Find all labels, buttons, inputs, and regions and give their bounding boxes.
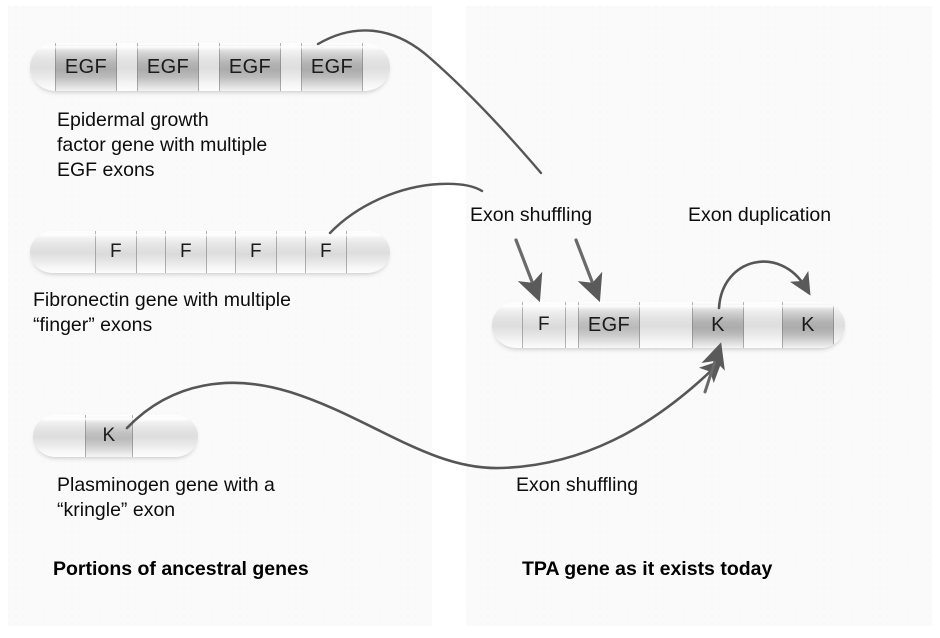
exon-tpa-k2: K — [782, 302, 834, 348]
exon-duplication-label: Exon duplication — [688, 203, 831, 227]
exon-f-4: F — [305, 231, 347, 273]
exon-egf-4: EGF — [301, 43, 363, 91]
exon-egf-1: EGF — [55, 43, 117, 91]
plasminogen-gene-bar: K — [33, 415, 198, 457]
fibronectin-gene-bar: F F F F — [30, 231, 390, 273]
exon-egf-3: EGF — [219, 43, 281, 91]
exon-f-2: F — [165, 231, 207, 273]
exon-f-1: F — [95, 231, 137, 273]
exon-f-3: F — [235, 231, 277, 273]
egf-gene-bar: EGF EGF EGF EGF — [30, 43, 390, 91]
exon-egf-2: EGF — [137, 43, 199, 91]
exon-tpa-f: F — [522, 302, 566, 348]
exon-shuffling-bottom-label: Exon shuffling — [516, 473, 638, 497]
exon-k-ancestral: K — [85, 415, 133, 457]
left-panel-title: Portions of ancestral genes — [53, 558, 309, 581]
exon-tpa-egf: EGF — [578, 302, 640, 348]
exon-shuffling-top-label: Exon shuffling — [470, 203, 592, 227]
exon-tpa-k1: K — [692, 302, 744, 348]
fibronectin-gene-caption: Fibronectin gene with multiple “finger” … — [33, 288, 413, 338]
plasminogen-gene-caption: Plasminogen gene with a “kringle” exon — [57, 473, 417, 523]
egf-gene-caption: Epidermal growth factor gene with multip… — [57, 108, 397, 183]
tpa-gene-bar: F EGF K K — [492, 302, 845, 348]
right-panel-title: TPA gene as it exists today — [522, 558, 772, 581]
diagram-canvas: EGF EGF EGF EGF Epidermal growth factor … — [0, 0, 940, 638]
